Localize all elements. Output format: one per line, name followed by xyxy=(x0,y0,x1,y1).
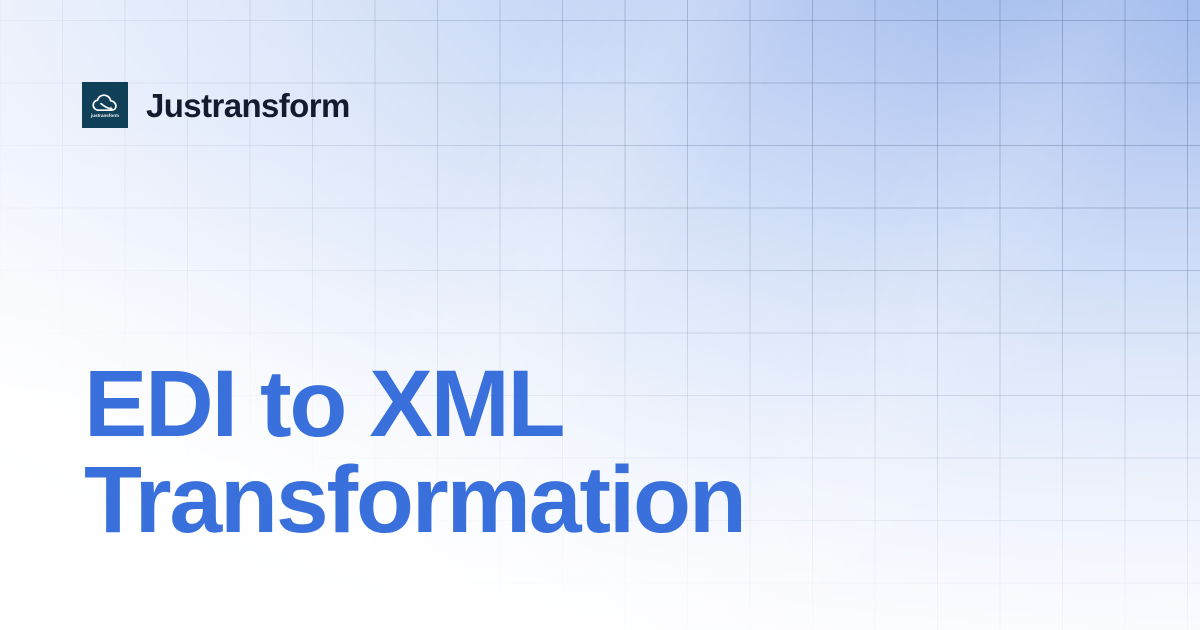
cloud-icon xyxy=(92,94,118,112)
brand-logo-wordmark: justransform xyxy=(91,114,119,118)
brand-logo-tile[interactable]: justransform xyxy=(82,82,128,128)
brand-name: Justransform xyxy=(146,89,350,122)
og-card: justransform Justransform EDI to XML Tra… xyxy=(0,0,1200,630)
page-title: EDI to XML Transformation xyxy=(84,356,745,548)
brand-lockup[interactable]: justransform Justransform xyxy=(82,82,350,128)
